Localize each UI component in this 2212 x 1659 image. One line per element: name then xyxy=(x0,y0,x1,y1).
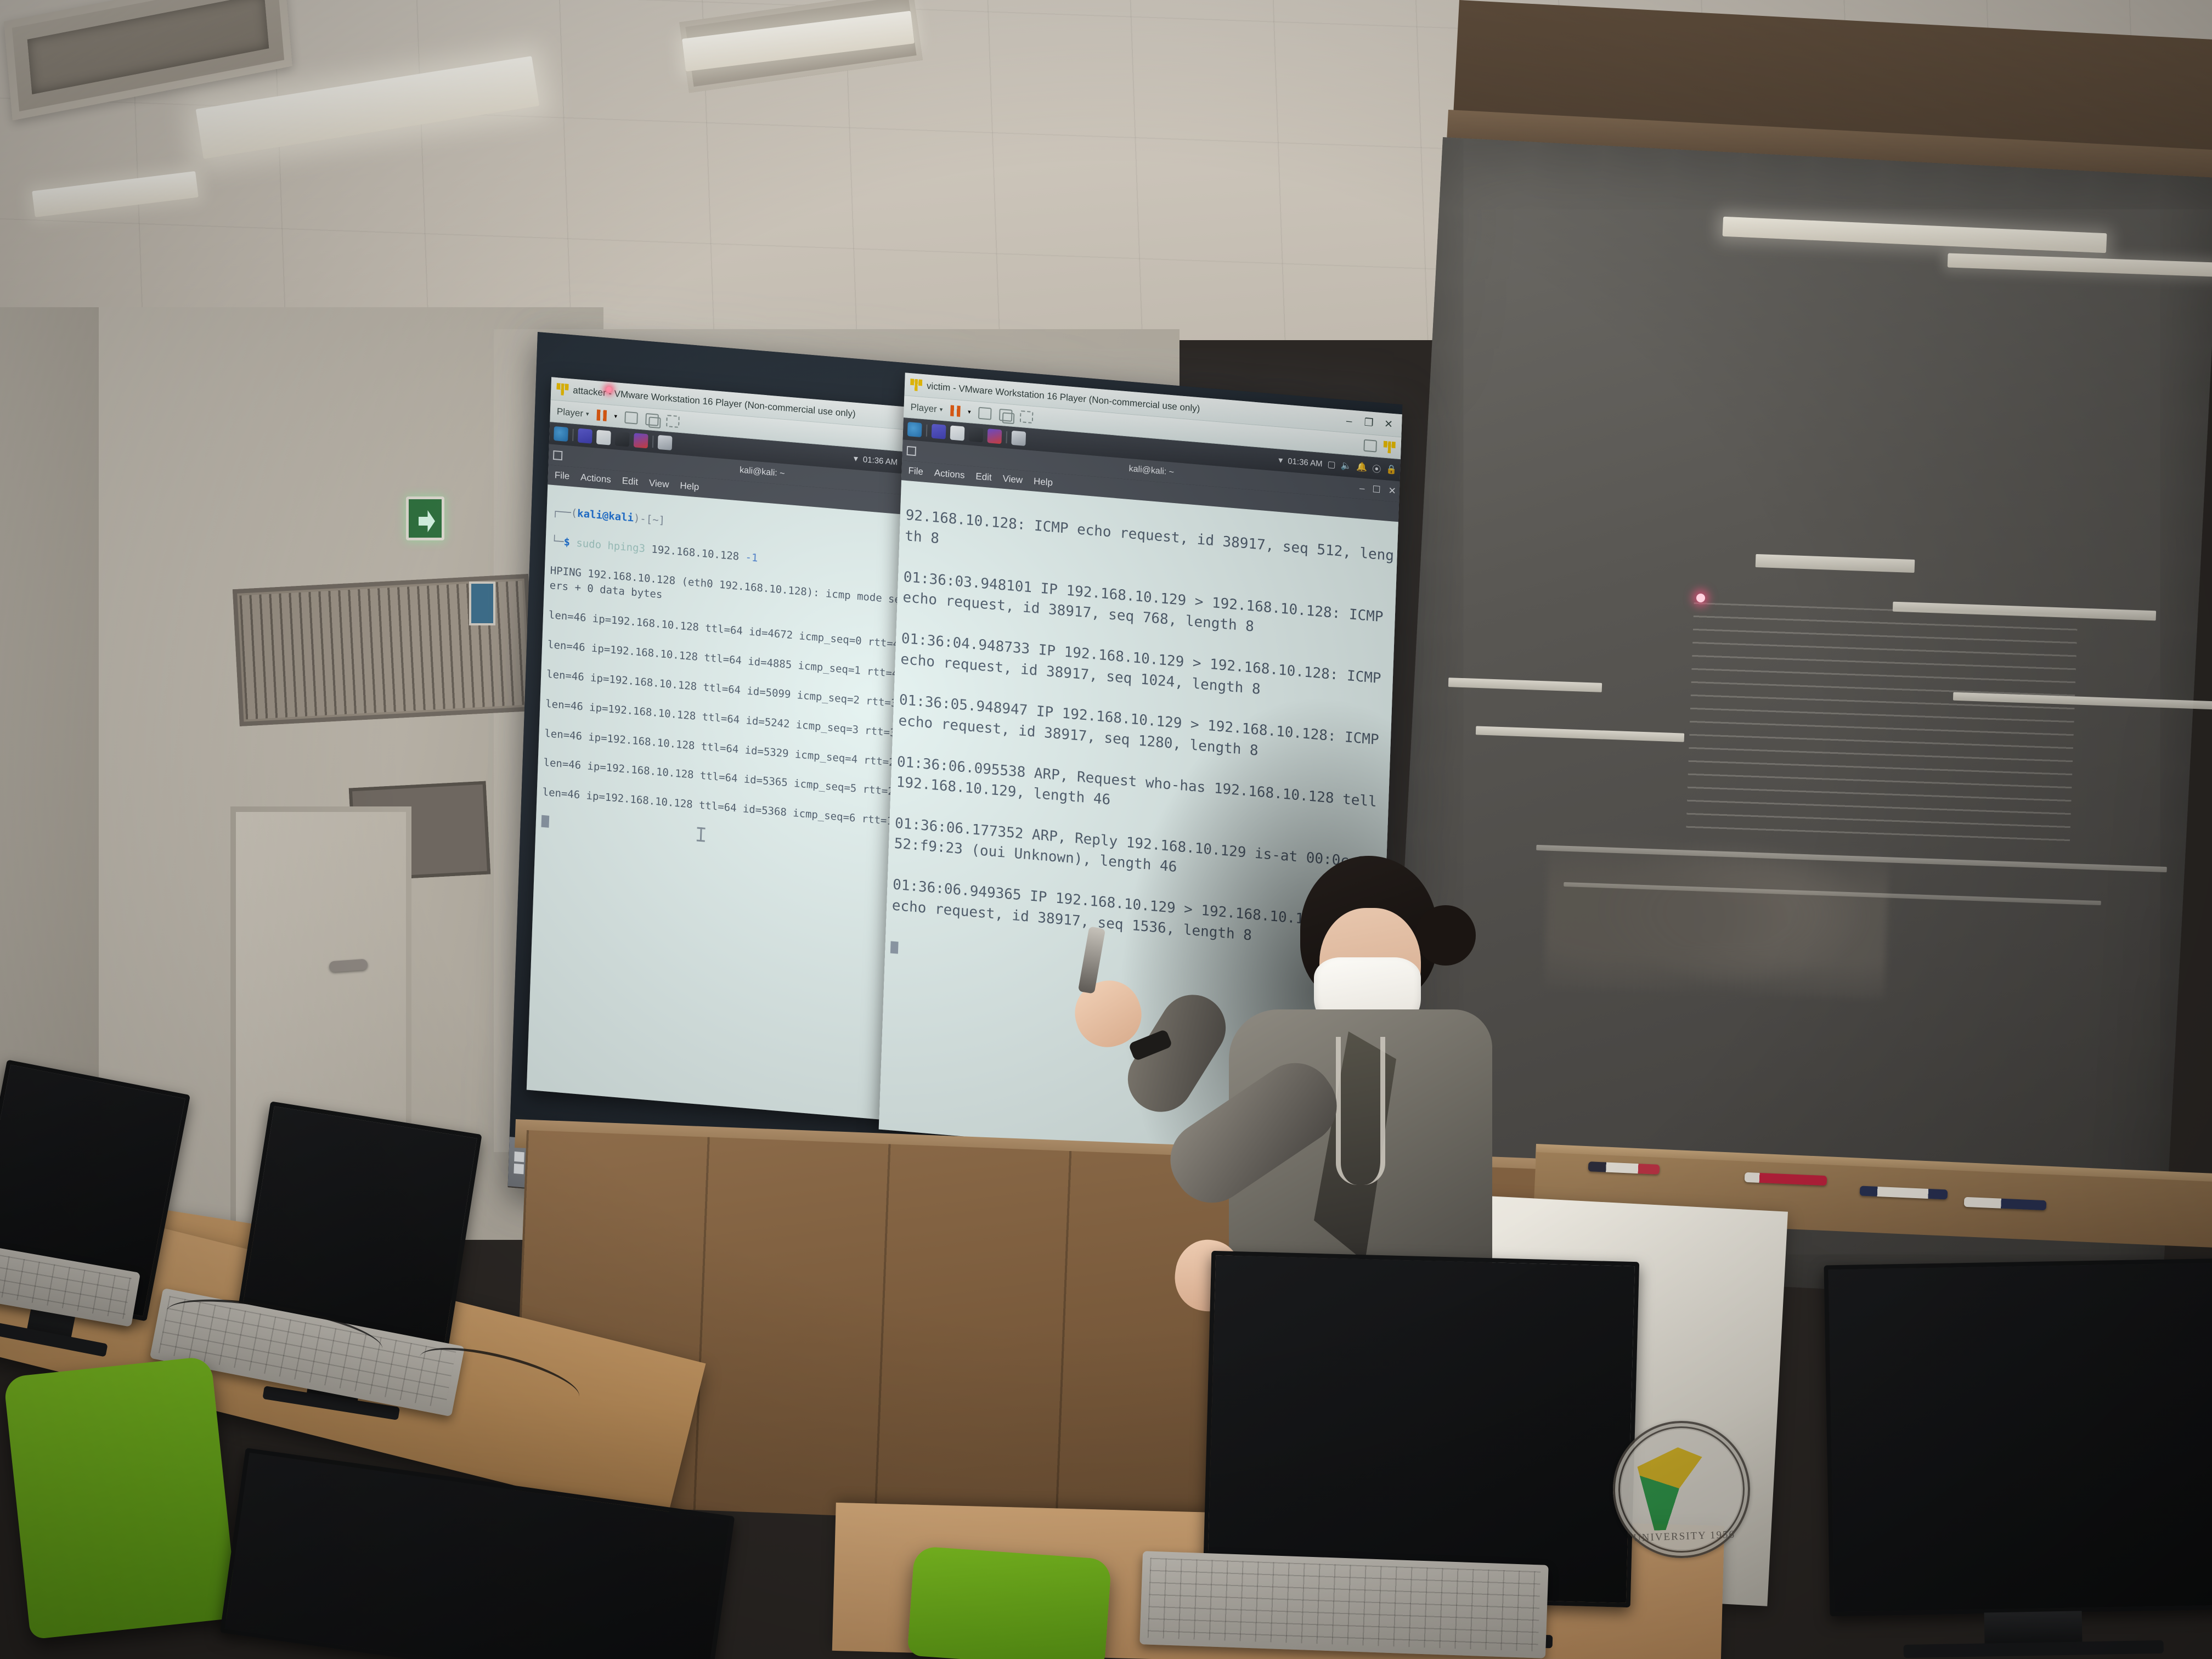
reflected-people xyxy=(1544,806,1890,998)
chevron-down-icon[interactable]: ▾ xyxy=(1278,455,1283,466)
menu-item-help[interactable]: Help xyxy=(1034,476,1053,488)
minimize-icon[interactable]: – xyxy=(1359,483,1365,494)
chevron-down-icon[interactable]: ▾ xyxy=(614,413,617,420)
fullscreen-icon[interactable] xyxy=(625,411,639,424)
menu-item-view[interactable]: View xyxy=(1002,473,1023,486)
recorder-icon[interactable] xyxy=(987,428,1002,444)
bell-icon[interactable]: 🔔 xyxy=(1356,461,1368,473)
volume-icon[interactable]: 🔈 xyxy=(1340,460,1352,472)
terminal-icon[interactable] xyxy=(932,424,946,439)
player-menu-button[interactable]: Player ▾ xyxy=(557,406,589,420)
chevron-down-icon[interactable]: ▾ xyxy=(968,408,971,415)
prompt-path: [~] xyxy=(646,513,665,527)
menu-item-edit[interactable]: Edit xyxy=(975,471,992,483)
classroom-photo: attacker - VMware Workstation 16 Player … xyxy=(0,0,2212,1659)
monitor-stand xyxy=(1984,1611,2083,1645)
hair-bun xyxy=(1415,905,1476,966)
files-icon[interactable] xyxy=(596,430,611,445)
chevron-down-icon: ▾ xyxy=(939,406,943,413)
id-lanyard xyxy=(1336,1037,1385,1185)
player-menu-label: Player xyxy=(910,402,937,415)
clock-label: 01:36 AM xyxy=(1288,456,1323,469)
panel-divider xyxy=(572,429,574,441)
green-chair[interactable] xyxy=(3,1356,238,1639)
menu-item-edit[interactable]: Edit xyxy=(622,476,638,488)
workspace-icon[interactable]: ▢ xyxy=(1327,459,1336,470)
command-target: 192.168.10.128 xyxy=(651,543,740,562)
command-flag: -1 xyxy=(745,551,758,565)
window-controls[interactable]: – ❐ ✕ xyxy=(1344,415,1397,430)
panel-divider xyxy=(926,425,928,437)
terminal-title: kali@kali: ~ xyxy=(1128,464,1174,478)
kali-dragon-icon[interactable] xyxy=(907,422,922,437)
terminal-window-icon xyxy=(553,450,563,460)
panel-divider xyxy=(652,436,654,448)
green-chair[interactable] xyxy=(907,1546,1111,1659)
terminal-window-icon xyxy=(907,445,917,455)
chevron-down-icon[interactable]: ▾ xyxy=(854,453,859,465)
monitor-screen xyxy=(1203,1251,1639,1607)
menu-item-actions[interactable]: Actions xyxy=(934,467,965,481)
close-icon[interactable]: ✕ xyxy=(1388,486,1396,497)
terminal-window-controls[interactable]: – ☐ ✕ xyxy=(1359,483,1397,497)
pause-icon[interactable] xyxy=(596,409,607,421)
student-monitor[interactable] xyxy=(1824,1259,2212,1617)
menu-item-file[interactable]: File xyxy=(555,470,570,482)
terminal-title: kali@kali: ~ xyxy=(740,465,785,479)
student-monitor[interactable] xyxy=(1203,1251,1639,1607)
firefox-icon[interactable] xyxy=(969,427,984,442)
emergency-exit-sign xyxy=(406,496,444,540)
unity-mode-icon[interactable] xyxy=(999,408,1013,421)
kali-dragon-icon[interactable] xyxy=(554,426,568,442)
monitor-screen xyxy=(1824,1259,2212,1617)
firefox-icon[interactable] xyxy=(615,431,630,447)
text-cursor-icon xyxy=(700,827,702,842)
player-menu-label: Player xyxy=(557,406,584,419)
vmware-toolbar-right[interactable] xyxy=(1363,439,1396,454)
monitor-base xyxy=(1904,1640,2164,1658)
prompt-user: kali@kali xyxy=(577,507,634,524)
lock-icon[interactable]: 🔒 xyxy=(1386,464,1397,476)
player-menu-button[interactable]: Player ▾ xyxy=(910,402,943,415)
menu-item-actions[interactable]: Actions xyxy=(580,472,611,486)
files-icon[interactable] xyxy=(950,425,965,441)
send-ctrl-alt-del-icon[interactable] xyxy=(666,415,680,428)
send-ctrl-alt-del-icon[interactable] xyxy=(1020,410,1034,424)
command-sudo-hping3: sudo hping3 xyxy=(576,537,645,555)
chevron-down-icon: ▾ xyxy=(586,410,589,417)
pause-icon[interactable] xyxy=(950,405,961,416)
shield-icon[interactable]: ⦿ xyxy=(1372,461,1381,475)
vmware-logo-icon xyxy=(910,379,923,392)
unity-mode-icon[interactable] xyxy=(645,413,659,426)
windows-vm-icon[interactable] xyxy=(1011,431,1026,446)
maximize-icon[interactable]: ❐ xyxy=(1363,417,1375,428)
laser-pointer-dot xyxy=(1696,594,1705,602)
fullscreen-icon[interactable] xyxy=(978,407,992,420)
menu-item-file[interactable]: File xyxy=(908,465,923,477)
menu-item-help[interactable]: Help xyxy=(680,480,699,493)
minimize-icon[interactable]: – xyxy=(1344,415,1355,427)
wall-sign xyxy=(469,582,495,625)
windows-vm-icon[interactable] xyxy=(658,435,673,450)
maximize-icon[interactable]: ☐ xyxy=(1372,484,1381,495)
prompt-dollar: $ xyxy=(563,536,570,549)
panel-divider xyxy=(1006,431,1007,443)
clock-label: 01:36 AM xyxy=(863,455,898,467)
laser-pointer-dot-on-screen xyxy=(606,387,612,392)
vmware-tools-icon[interactable] xyxy=(1383,441,1396,454)
recorder-icon[interactable] xyxy=(634,433,648,448)
terminal-icon[interactable] xyxy=(578,428,592,444)
menu-item-view[interactable]: View xyxy=(649,478,669,490)
back-icon[interactable] xyxy=(1363,439,1377,452)
vmware-logo-icon xyxy=(556,383,569,396)
student-keyboard[interactable] xyxy=(1139,1551,1548,1658)
close-icon[interactable]: ✕ xyxy=(1383,419,1395,431)
